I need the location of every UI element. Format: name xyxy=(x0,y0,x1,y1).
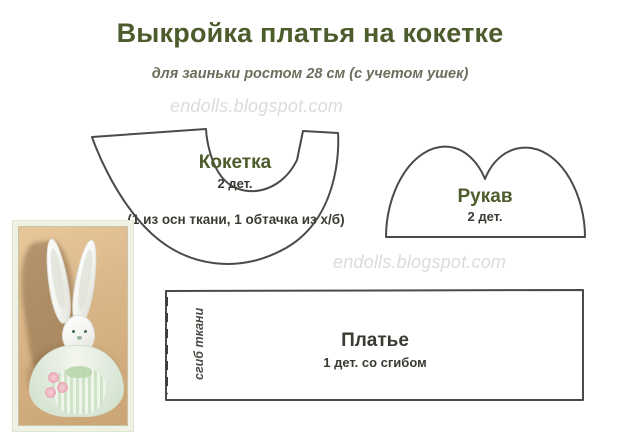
bunny-left-eye xyxy=(72,330,75,333)
bunny-body xyxy=(29,345,124,417)
flower-icon xyxy=(57,382,68,393)
dress-quantity: 1 дет. со сгибом xyxy=(265,355,485,370)
sleeve-label: Рукав xyxy=(405,186,565,208)
bunny-right-eye xyxy=(84,330,87,333)
yoke-note: (1 из осн ткани, 1 обтачка из х/б) xyxy=(105,212,367,227)
bunny-right-ear xyxy=(68,238,101,326)
flower-icon xyxy=(45,387,56,398)
yoke-quantity: 2 дет. xyxy=(155,176,315,191)
photo-background xyxy=(18,226,128,426)
bunny-nose xyxy=(77,336,82,340)
bunny-doll-photo xyxy=(12,220,134,432)
yoke-label: Кокетка xyxy=(155,152,315,174)
pattern-sheet: Выкройка платья на кокетке для заиньки р… xyxy=(0,0,620,438)
sleeve-quantity: 2 дет. xyxy=(405,209,565,224)
flower-icon xyxy=(48,372,59,383)
dress-label: Платье xyxy=(265,330,485,352)
ear-inner-right xyxy=(76,249,96,312)
bunny-dress-bow xyxy=(66,366,92,378)
dress-fold-label: сгиб ткани xyxy=(192,308,206,380)
